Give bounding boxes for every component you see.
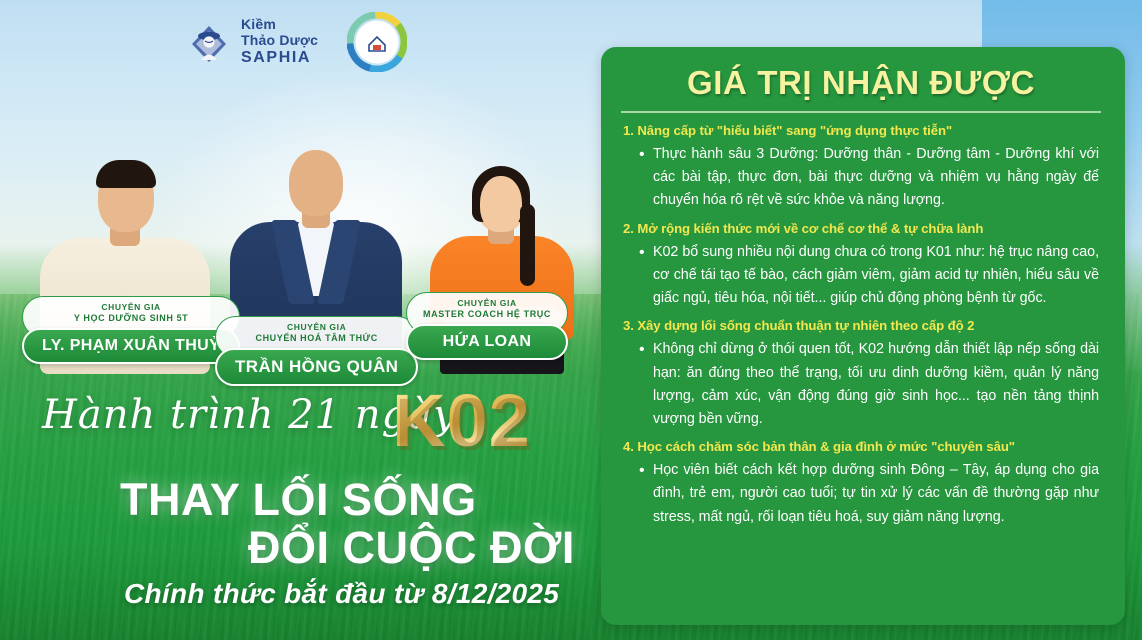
expert-3-role-line1: CHUYÊN GIA xyxy=(423,298,551,309)
expert-3-braid xyxy=(520,204,535,286)
expert-3-face xyxy=(480,176,522,232)
title-divider xyxy=(621,111,1101,113)
benefit-heading-1: 1. Nâng cấp từ "hiểu biết" sang "ứng dụn… xyxy=(623,122,1105,139)
benefit-list-3: Không chỉ dừng ở thói quen tốt, K02 hướn… xyxy=(639,338,1105,431)
benefit-section-1: 1. Nâng cấp từ "hiểu biết" sang "ứng dụn… xyxy=(617,122,1105,213)
benefit-heading-4: 4. Học cách chăm sóc bản thân & gia đình… xyxy=(623,438,1105,455)
list-item: Không chỉ dừng ở thói quen tốt, K02 hướn… xyxy=(639,338,1105,431)
brand-wordmark: Kiềm Thảo Dược SAPHIA xyxy=(241,17,318,66)
expert-3-name: HỨA LOAN xyxy=(406,324,568,360)
brand-line-1: Kiềm xyxy=(241,17,318,33)
benefits-panel: GIÁ TRỊ NHẬN ĐƯỢC 1. Nâng cấp từ "hiểu b… xyxy=(601,47,1125,625)
slogan-line-2: ĐỔI CUỘC ĐỜI xyxy=(248,522,575,574)
brand-line-2: Thảo Dược xyxy=(241,33,318,49)
expert-2-role-line1: CHUYÊN GIA xyxy=(232,322,401,333)
five-element-circle-badge xyxy=(347,12,407,72)
start-date: Chính thức bắt đầu từ 8/12/2025 xyxy=(124,578,559,610)
benefit-list-2: K02 bổ sung nhiều nội dung chưa có trong… xyxy=(639,241,1105,310)
herbalist-portrait-icon xyxy=(186,14,232,70)
expert-2-name: TRẦN HỒNG QUÂN xyxy=(215,348,418,386)
expert-nameplate-3: CHUYÊN GIA MASTER COACH HỆ TRỤC HỨA LOAN xyxy=(406,292,568,360)
expert-1-role-line1: CHUYÊN GIA xyxy=(39,302,223,313)
slogan-line-1: THAY LỐI SỐNG xyxy=(120,474,477,526)
expert-1-hair xyxy=(96,160,156,188)
course-code: K02 xyxy=(392,378,531,463)
benefit-section-2: 2. Mở rộng kiến thức mới về cơ chế cơ th… xyxy=(617,220,1105,311)
expert-1-role-line2: Y HỌC DƯỠNG SINH 5T xyxy=(39,313,223,324)
benefit-list-4: Học viên biết cách kết hợp dưỡng sinh Đô… xyxy=(639,459,1105,528)
benefit-heading-3: 3. Xây dựng lối sống chuẩn thuận tự nhiê… xyxy=(623,317,1105,334)
list-item: Thực hành sâu 3 Dưỡng: Dưỡng thân - Dưỡn… xyxy=(639,143,1105,212)
list-item: Học viên biết cách kết hợp dưỡng sinh Đô… xyxy=(639,459,1105,528)
list-item: K02 bổ sung nhiều nội dung chưa có trong… xyxy=(639,241,1105,310)
expert-2-head xyxy=(289,150,343,216)
panel-title: GIÁ TRỊ NHẬN ĐƯỢC xyxy=(617,57,1105,111)
expert-nameplate-2: CHUYÊN GIA CHUYỂN HOÁ TÂM THỨC TRẦN HỒNG… xyxy=(215,316,418,386)
benefit-heading-2: 2. Mở rộng kiến thức mới về cơ chế cơ th… xyxy=(623,220,1105,237)
expert-1-name: LY. PHẠM XUÂN THUỶ xyxy=(22,328,240,364)
benefit-section-4: 4. Học cách chăm sóc bản thân & gia đình… xyxy=(617,438,1105,529)
expert-2-role-line2: CHUYỂN HOÁ TÂM THỨC xyxy=(232,333,401,344)
brand-line-3: SAPHIA xyxy=(241,49,318,67)
benefit-list-1: Thực hành sâu 3 Dưỡng: Dưỡng thân - Dưỡn… xyxy=(639,143,1105,212)
expert-nameplate-1: CHUYÊN GIA Y HỌC DƯỠNG SINH 5T LY. PHẠM … xyxy=(22,296,240,364)
expert-3-role-line2: MASTER COACH HỆ TRỤC xyxy=(423,309,551,320)
brand-logo: Kiềm Thảo Dược SAPHIA xyxy=(186,12,407,72)
benefit-section-3: 3. Xây dựng lối sống chuẩn thuận tự nhiê… xyxy=(617,317,1105,431)
